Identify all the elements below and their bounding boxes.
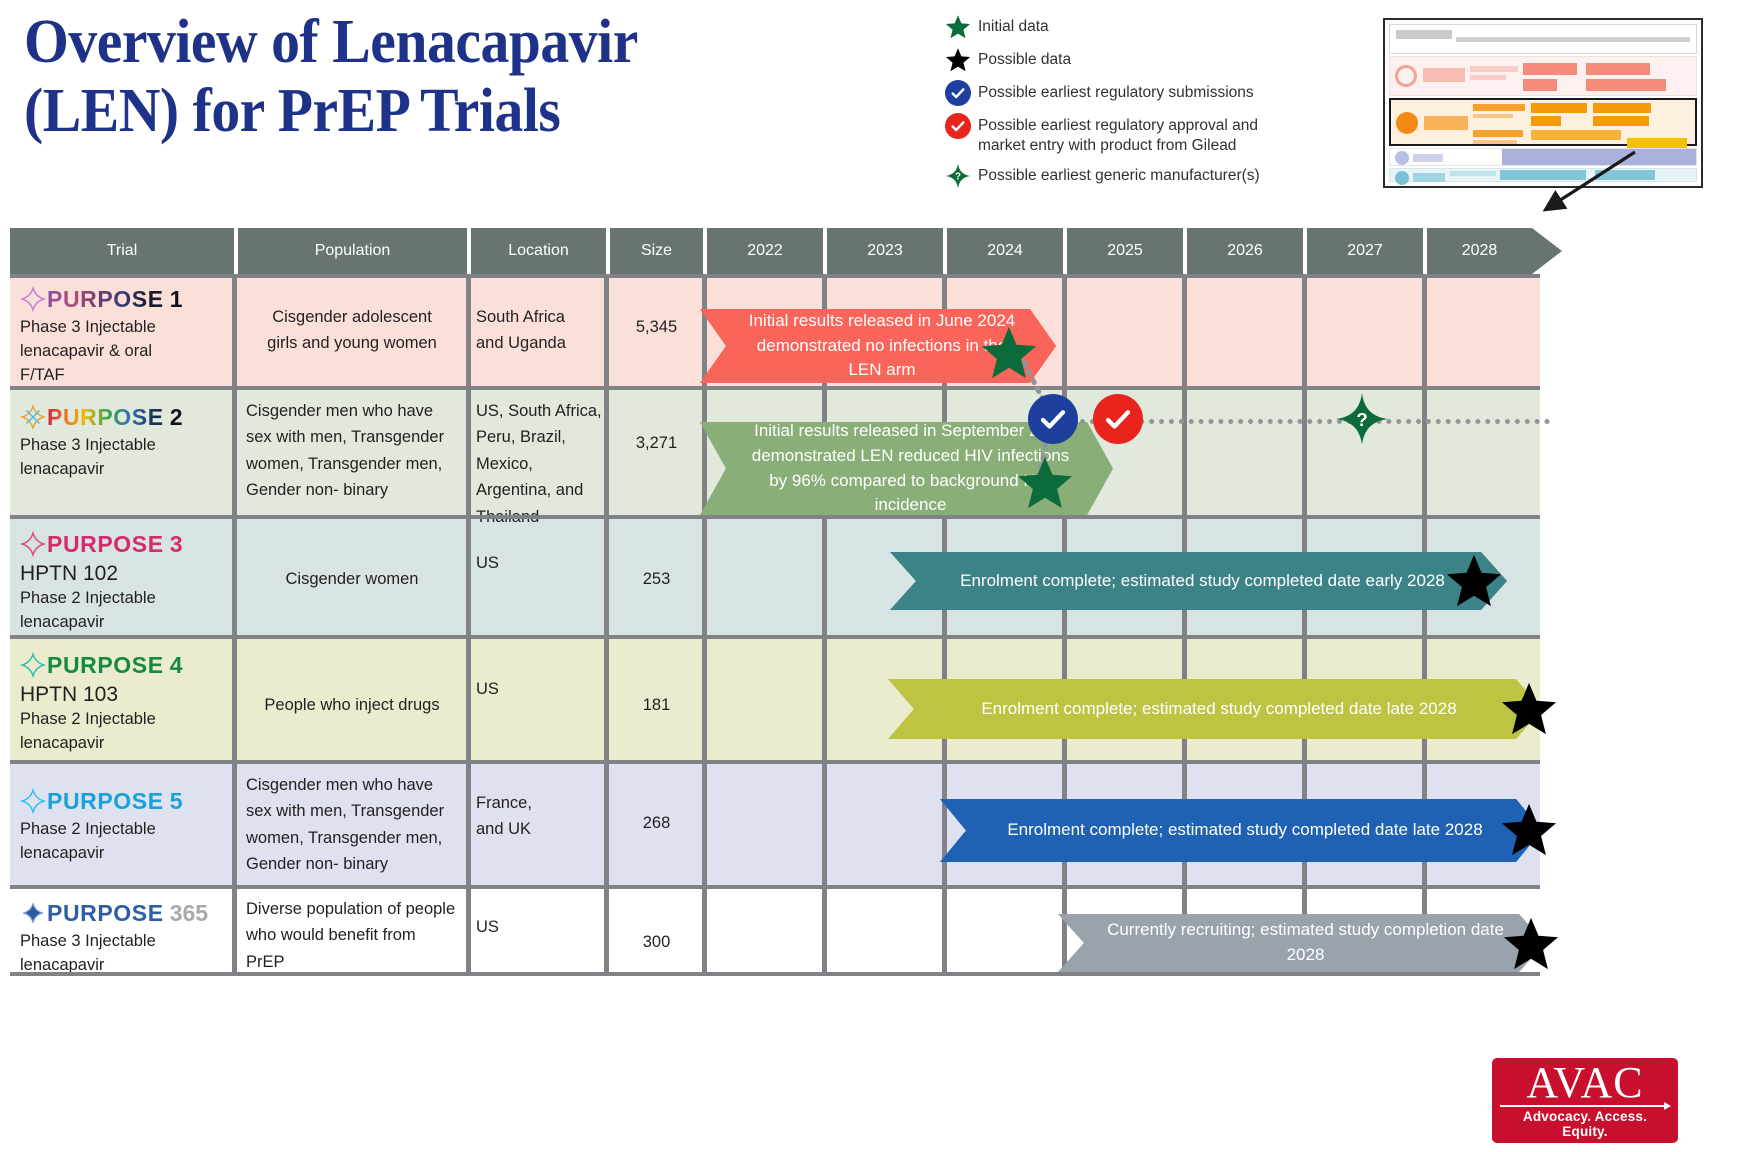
grid-line-horizontal [10,760,1540,764]
trial-subtitle-line: lenacapavir [20,842,226,866]
svg-text:?: ? [955,171,961,182]
grid-line-horizontal [10,972,1540,976]
size-cell-purpose-3: 253 [610,566,703,592]
green-star-icon [938,14,978,40]
grid-line-horizontal [10,635,1540,639]
page-title-line-2: (LEN) for PrEP Trials [24,77,861,146]
trial-cell-purpose-1: PURPOSE 1 Phase 3 Injectable lenacapavir… [20,284,226,388]
timeline-bar-purpose-5-overlay[interactable]: Enrolment complete; estimated study comp… [940,799,1542,862]
legend-label: Initial data [978,14,1049,37]
purpose-5-logo-word: PURPOSE [47,788,164,815]
column-header-2022: 2022 [707,228,823,274]
trial-subtitle-line: F/TAF [20,364,226,388]
legend-label: Possible earliest regulatory approval an… [978,113,1278,156]
purpose-4-logo-number: 4 [170,652,183,679]
header-right-chevron-icon [1532,228,1562,274]
population-line: sex with men, Transgender [246,798,468,824]
purpose-4-logo-word: PURPOSE [47,652,164,679]
green-star-marker-purpose-1[interactable] [980,324,1038,382]
location-cell-purpose-3: US [476,550,602,576]
black-star-marker-purpose-3[interactable] [1445,552,1503,610]
purpose-1-logo-number: 1 [170,286,183,313]
grid-line-vertical [1182,274,1187,974]
table-body: PURPOSE 1 Phase 3 Injectable lenacapavir… [10,274,1562,974]
trial-subtitle-line: Phase 3 Injectable [20,316,226,340]
column-header-population: Population [238,228,467,274]
column-header-2026: 2026 [1187,228,1303,274]
timeline-bar-purpose-4-overlay[interactable]: Enrolment complete; estimated study comp… [888,679,1542,739]
legend: Initial data Possible data Possible earl… [938,14,1358,196]
purpose-3-logo: PURPOSE 3 [20,529,226,559]
location-line: Peru, Brazil, [476,424,606,450]
purpose-4-logo: PURPOSE 4 [20,650,226,680]
location-cell-purpose-365: US [476,914,602,940]
legend-item-initial-data: Initial data [938,14,1358,40]
trial-subtitle-line: Phase 3 Injectable [20,930,226,954]
inset-pointer-arrow-icon [1530,150,1640,220]
sparkle-icon [20,652,46,678]
column-header-size: Size [610,228,703,274]
location-line: South Africa [476,304,602,330]
size-cell-purpose-365: 300 [610,929,703,955]
grid-line-vertical [1302,274,1307,974]
population-line: Cisgender men who have [246,398,468,424]
black-star-icon [938,47,978,73]
trial-cell-purpose-5: PURPOSE 5 Phase 2 Injectable lenacapavir [20,786,226,866]
red-check-circle-marker[interactable] [1093,394,1143,444]
trial-cell-purpose-3: PURPOSE 3 HPTN 102 Phase 2 Injectable le… [20,529,226,635]
location-line: France, [476,790,602,816]
population-line: women, Transgender men, [246,451,468,477]
sparkle-icon [20,286,46,312]
green-question-star-marker[interactable]: ? [1335,392,1389,446]
timeline-bar-label: Enrolment complete; estimated study comp… [888,697,1542,722]
legend-item-regulatory-submission: Possible earliest regulatory submissions [938,80,1358,106]
trial-subtitle-line: lenacapavir [20,458,226,482]
column-header-2028: 2028 [1427,228,1532,274]
trial-cell-purpose-365: PURPOSE 365 Phase 3 Injectable lenacapav… [20,898,226,978]
green-star-marker-purpose-2[interactable] [1016,454,1074,512]
trial-hptn-id: HPTN 103 [20,682,226,708]
population-line: women, Transgender men, [246,825,468,851]
black-star-marker-purpose-4[interactable] [1500,680,1558,738]
location-line: and Uganda [476,330,602,356]
page-title: Overview of Lenacapavir (LEN) for PrEP T… [24,8,861,147]
location-cell-purpose-1: South Africa and Uganda [476,304,602,357]
column-header-2027: 2027 [1307,228,1423,274]
population-line: who would benefit from [246,922,468,948]
avac-tagline: Advocacy. Access. Equity. [1500,1109,1670,1139]
grid-line-horizontal [10,885,1540,889]
green-question-star-icon: ? [938,163,978,189]
grid-line-vertical [466,274,471,974]
purpose-1-logo: PURPOSE 1 [20,284,226,314]
grid-line-vertical [1062,274,1067,974]
trial-subtitle-line: Phase 2 Injectable [20,587,226,611]
population-cell-purpose-2: Cisgender men who have sex with men, Tra… [246,398,468,504]
svg-text:?: ? [1356,410,1368,431]
purpose-365-logo: PURPOSE 365 [20,898,226,928]
legend-label: Possible earliest regulatory submissions [978,80,1254,103]
blue-check-circle-marker[interactable] [1028,394,1078,444]
legend-label: Possible earliest generic manufacturer(s… [978,163,1260,186]
population-cell-purpose-3: Cisgender women [242,566,462,592]
size-cell-purpose-4: 181 [610,692,703,718]
red-check-circle-icon [938,113,978,139]
trial-subtitle-line: Phase 2 Injectable [20,818,226,842]
legend-item-possible-data: Possible data [938,47,1358,73]
column-header-2025: 2025 [1067,228,1183,274]
purpose-2-logo-word: PURPOSE [47,404,164,431]
sparkle-icon [20,900,46,926]
column-header-2024: 2024 [947,228,1063,274]
population-line: Cisgender adolescent [242,304,462,330]
purpose-2-logo: PURPOSE 2 [20,402,226,432]
grid-line-horizontal [10,274,1540,278]
sparkle-icon [20,404,46,430]
location-cell-purpose-4: US [476,676,602,702]
purpose-1-logo-word: PURPOSE [47,286,164,313]
population-line: Gender non- binary [246,851,468,877]
size-cell-purpose-1: 5,345 [610,314,703,340]
population-cell-purpose-5: Cisgender men who have sex with men, Tra… [246,772,468,878]
avac-brand-text: AVAC [1500,1063,1670,1103]
grid-line-horizontal [10,515,1540,519]
avac-logo: AVAC Advocacy. Access. Equity. [1492,1058,1678,1143]
trial-subtitle-line: Phase 3 Injectable [20,434,226,458]
purpose-3-logo-word: PURPOSE [47,531,164,558]
population-line: Cisgender men who have [246,772,468,798]
purpose-5-logo-number: 5 [170,788,183,815]
size-cell-purpose-5: 268 [610,810,703,836]
population-line: Gender non- binary [246,477,468,503]
purpose-5-logo: PURPOSE 5 [20,786,226,816]
avac-logo-block: AVAC Advocacy. Access. Equity. February … [1492,1058,1678,1152]
purpose-365-logo-number: 365 [170,900,208,927]
table-header-row: Trial Population Location Size 2022 2023… [10,228,1562,274]
column-header-trial: Trial [10,228,234,274]
column-header-location: Location [471,228,606,274]
column-header-2023: 2023 [827,228,943,274]
grid-line-horizontal [10,386,1540,390]
sparkle-icon [20,788,46,814]
location-line: Argentina, and [476,477,606,503]
trial-subtitle-line: lenacapavir & oral [20,340,226,364]
sparkle-icon [20,531,46,557]
black-star-marker-purpose-5[interactable] [1500,801,1558,859]
trial-cell-purpose-4: PURPOSE 4 HPTN 103 Phase 2 Injectable le… [20,650,226,756]
population-line: sex with men, Transgender [246,424,468,450]
grid-line-vertical [1422,274,1427,974]
location-cell-purpose-2: US, South Africa, Peru, Brazil, Mexico, … [476,398,606,530]
timeline-bar-label: Enrolment complete; estimated study comp… [940,818,1542,843]
purpose-3-logo-number: 3 [170,531,183,558]
avac-divider-arrow-icon [1500,1105,1670,1107]
location-cell-purpose-5: France, and UK [476,790,602,843]
population-line: girls and young women [242,330,462,356]
size-cell-purpose-2: 3,271 [610,430,703,456]
legend-item-regulatory-approval: Possible earliest regulatory approval an… [938,113,1358,156]
population-cell-purpose-4: People who inject drugs [242,692,462,718]
page-title-line-1: Overview of Lenacapavir [24,8,861,77]
timeline-bar-label: Currently recruiting; estimated study co… [1058,918,1545,967]
trial-subtitle-line: Phase 2 Injectable [20,708,226,732]
timeline-dotted-line [1080,419,1550,424]
timeline-bar-purpose-3-overlay[interactable]: Enrolment complete; estimated study comp… [890,552,1507,610]
legend-label: Possible data [978,47,1071,70]
grid-line-vertical [232,274,237,974]
purpose-365-logo-word: PURPOSE [47,900,164,927]
grid-line-vertical [604,274,609,974]
black-star-marker-purpose-365[interactable] [1502,915,1560,973]
legend-item-generic-manufacturer: ? Possible earliest generic manufacturer… [938,163,1358,189]
trial-subtitle-line: lenacapavir [20,732,226,756]
trial-cell-purpose-2: PURPOSE 2 Phase 3 Injectable lenacapavir [20,402,226,482]
population-line: Diverse population of people [246,896,468,922]
location-line: Mexico, [476,451,606,477]
trial-hptn-id: HPTN 102 [20,561,226,587]
trial-subtitle-line: lenacapavir [20,611,226,635]
location-line: US, South Africa, [476,398,606,424]
purpose-2-logo-number: 2 [170,404,183,431]
timeline-bar-purpose-365-overlay[interactable]: Currently recruiting; estimated study co… [1058,914,1545,972]
blue-check-circle-icon [938,80,978,106]
trials-timeline-table: Trial Population Location Size 2022 2023… [10,228,1562,974]
location-line: and UK [476,816,602,842]
population-cell-purpose-365: Diverse population of people who would b… [246,896,468,975]
timeline-bar-label: Enrolment complete; estimated study comp… [890,569,1507,594]
population-cell-purpose-1: Cisgender adolescent girls and young wom… [242,304,462,357]
